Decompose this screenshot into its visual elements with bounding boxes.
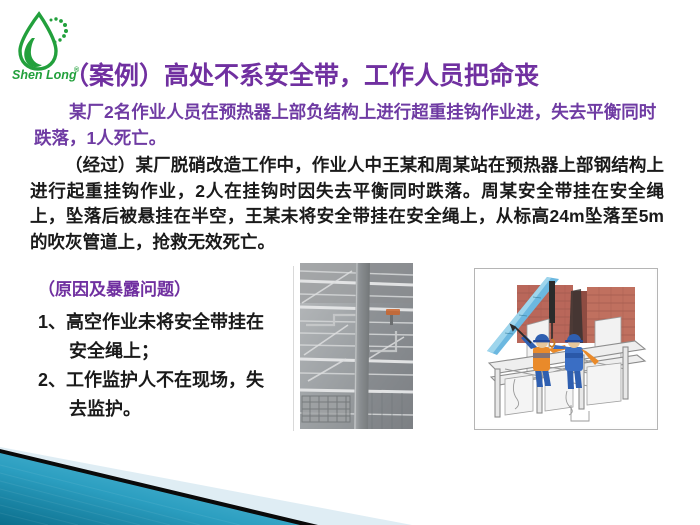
process-paragraph: （经过）某厂脱硝改造工作中，作业人中王某和周某站在预热器上部钢结构上进行起重挂钩…: [30, 153, 664, 255]
content-divider: [293, 266, 294, 431]
slide-canvas: Shen Long ® （案例）高处不系安全带，工作人员把命丧 某厂2名作业人员…: [0, 0, 700, 525]
cause-item-1: 1、高空作业未将安全带挂在 安全绳上；: [38, 308, 288, 366]
bottom-decoration: [0, 425, 700, 525]
accident-illustration: [474, 268, 658, 430]
cause-item-2: 2、工作监护人不在现场，失 去监护。: [38, 366, 288, 424]
cause-item-1-line2: 安全绳上；: [38, 337, 288, 366]
page-title: （案例）高处不系安全带，工作人员把命丧: [64, 56, 539, 92]
summary-paragraph: 某厂2名作业人员在预热器上部负结构上进行超重挂钩作业进，失去平衡同时跌落，1人死…: [34, 99, 660, 151]
cause-heading: （原因及暴露问题）: [38, 276, 288, 304]
cause-item-2-line2: 去监护。: [38, 395, 288, 424]
cause-item-2-line1: 2、工作监护人不在现场，失: [38, 370, 264, 390]
accident-site-photo: [300, 263, 413, 429]
cause-item-1-line1: 1、高空作业未将安全带挂在: [38, 312, 264, 332]
cause-section: （原因及暴露问题） 1、高空作业未将安全带挂在 安全绳上； 2、工作监护人不在现…: [38, 276, 288, 424]
